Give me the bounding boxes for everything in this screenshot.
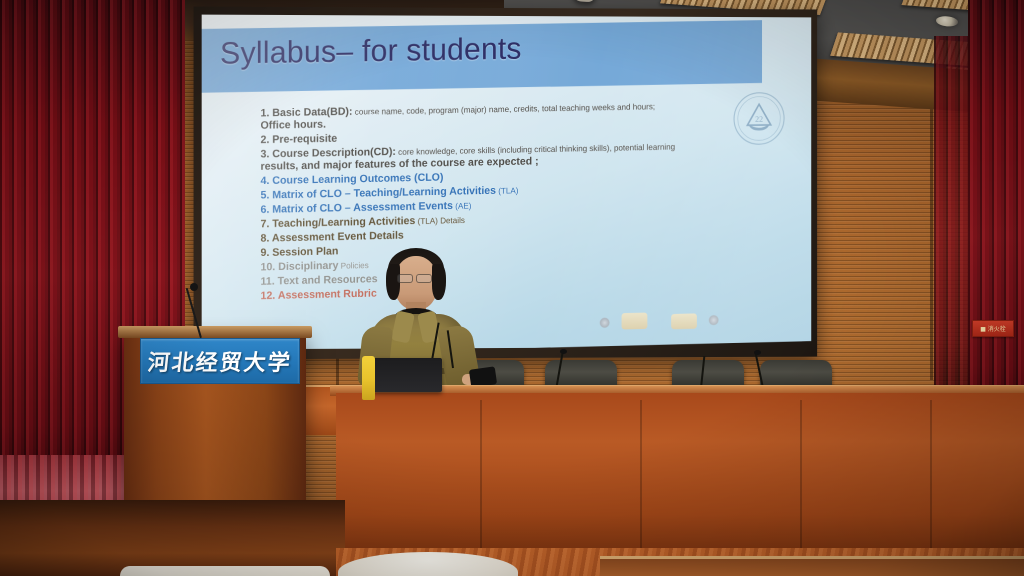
foreground-white-object (120, 566, 330, 576)
slide-title: Syllabus– for students (220, 32, 522, 72)
laptop[interactable] (372, 358, 442, 392)
presenter-hair-side (432, 264, 446, 300)
table-panel-seam (930, 400, 932, 550)
slide-bullet-lead: 2. Pre-requisite (261, 132, 338, 146)
slide-bullet-lead: 7. Teaching/Learning Activities (261, 215, 416, 231)
slide-bullet-lead: Office hours. (261, 118, 326, 132)
slide-bullet-list: 1. Basic Data(BD): course name, code, pr… (261, 98, 812, 305)
screen-glare (671, 313, 697, 329)
fire-hydrant-sign-text: ■ 消火栓 (980, 324, 1006, 333)
ceiling-speaker-icon (572, 0, 596, 3)
glasses-icon (416, 274, 432, 283)
table-panel-seam (640, 400, 642, 550)
foreground-table (600, 556, 1024, 576)
presentation-slide: Syllabus– for students 22 1. Basic Data(… (202, 15, 812, 350)
stage-curtain-right (968, 0, 1024, 430)
table-panel-seam (480, 400, 482, 550)
slide-bullet-lead: 10. Disciplinary (261, 259, 339, 273)
water-bottle (362, 356, 375, 400)
slide-bullet-lead: 1. Basic Data(BD): (261, 105, 353, 119)
slide-bullet-tail: (AE) (453, 201, 471, 211)
slide-bullet-lead: 8. Assessment Event Details (261, 229, 404, 244)
head-table-front (336, 393, 1024, 555)
slide-bullet-lead: 6. Matrix of CLO – Assessment Events (261, 200, 453, 216)
slide-bullet-tail: (TLA) Details (415, 216, 465, 226)
podium-nameplate: 河北经贸大学 (140, 338, 300, 384)
fire-hydrant-sign: ■ 消火栓 (972, 320, 1014, 337)
slide-bullet-lead: 9. Session Plan (261, 245, 339, 259)
podium-top-surface (118, 326, 312, 338)
projection-screen: Syllabus– for students 22 1. Basic Data(… (194, 6, 818, 359)
stage-curtain-right-inner (934, 36, 968, 396)
table-microphone-head-icon (560, 349, 567, 354)
glasses-icon (397, 274, 413, 283)
stage-floor (0, 500, 345, 576)
screen-glare (622, 313, 648, 330)
slide-bullet-tail: (TLA) (496, 186, 518, 196)
lecture-hall-photo: Syllabus– for students 22 1. Basic Data(… (0, 0, 1024, 576)
slide-bullet-lead: 4. Course Learning Outcomes (CLO) (261, 171, 444, 187)
table-microphone-head-icon (754, 350, 761, 355)
screen-surface: Syllabus– for students 22 1. Basic Data(… (202, 15, 812, 350)
table-panel-seam (800, 400, 802, 550)
screen-glare-dot (600, 318, 610, 328)
podium-nameplate-text: 河北经贸大学 (146, 345, 293, 377)
recessed-ceiling-light (936, 16, 958, 28)
screen-glare-dot (709, 315, 719, 325)
podium-microphone-head-icon (190, 283, 198, 291)
